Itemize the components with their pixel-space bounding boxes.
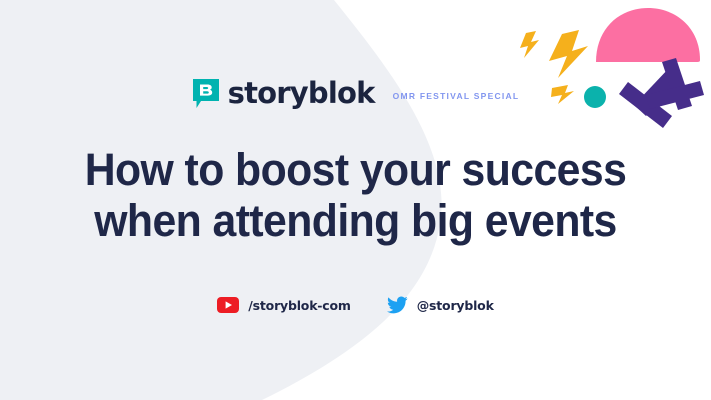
brand-row: storyblok OMR FESTIVAL SPECIAL — [0, 78, 711, 110]
event-kicker-label: OMR FESTIVAL SPECIAL — [393, 91, 520, 101]
social-link-twitter[interactable]: @storyblok — [387, 296, 494, 314]
youtube-handle: /storyblok-com — [248, 298, 350, 313]
twitter-icon — [387, 296, 408, 314]
twitter-handle: @storyblok — [417, 298, 494, 313]
headline-line-2: when attending big events — [18, 195, 693, 246]
social-links-row: /storyblok-com @storyblok — [0, 296, 711, 314]
slide-canvas: storyblok OMR FESTIVAL SPECIAL How to bo… — [0, 0, 711, 400]
storyblok-logo-icon — [192, 78, 220, 110]
youtube-icon — [217, 297, 239, 313]
headline-line-1: How to boost your success — [18, 144, 693, 195]
social-link-youtube[interactable]: /storyblok-com — [217, 297, 350, 313]
page-title: How to boost your success when attending… — [18, 144, 693, 247]
storyblok-wordmark: storyblok — [228, 79, 375, 108]
